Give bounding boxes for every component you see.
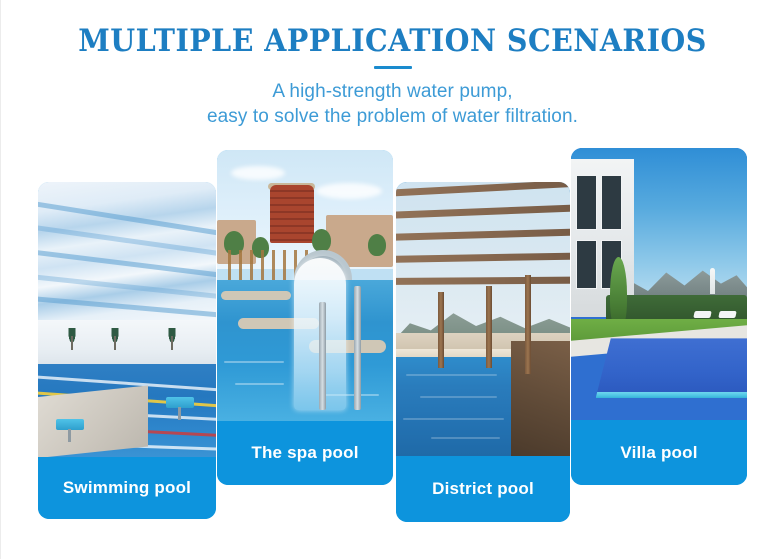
scenario-card-spa-pool[interactable]: The spa pool [217,150,393,485]
villa-pool-photo [571,148,747,420]
indoor-competition-swimming-pool-photo [38,182,216,457]
scenario-card-swimming-pool[interactable]: Swimming pool [38,182,216,519]
spa-pool-waterfall-photo [217,150,393,421]
scenario-card-grid: Swimming pool [1,0,783,559]
scenario-card-district-pool[interactable]: District pool [396,182,570,522]
district-pool-pergola-photo [396,182,570,456]
card-label-villa-pool: Villa pool [571,420,747,485]
scenario-card-villa-pool[interactable]: Villa pool [571,148,747,485]
card-label-district-pool: District pool [396,456,570,522]
card-label-spa-pool: The spa pool [217,421,393,485]
card-label-swimming-pool: Swimming pool [38,457,216,519]
